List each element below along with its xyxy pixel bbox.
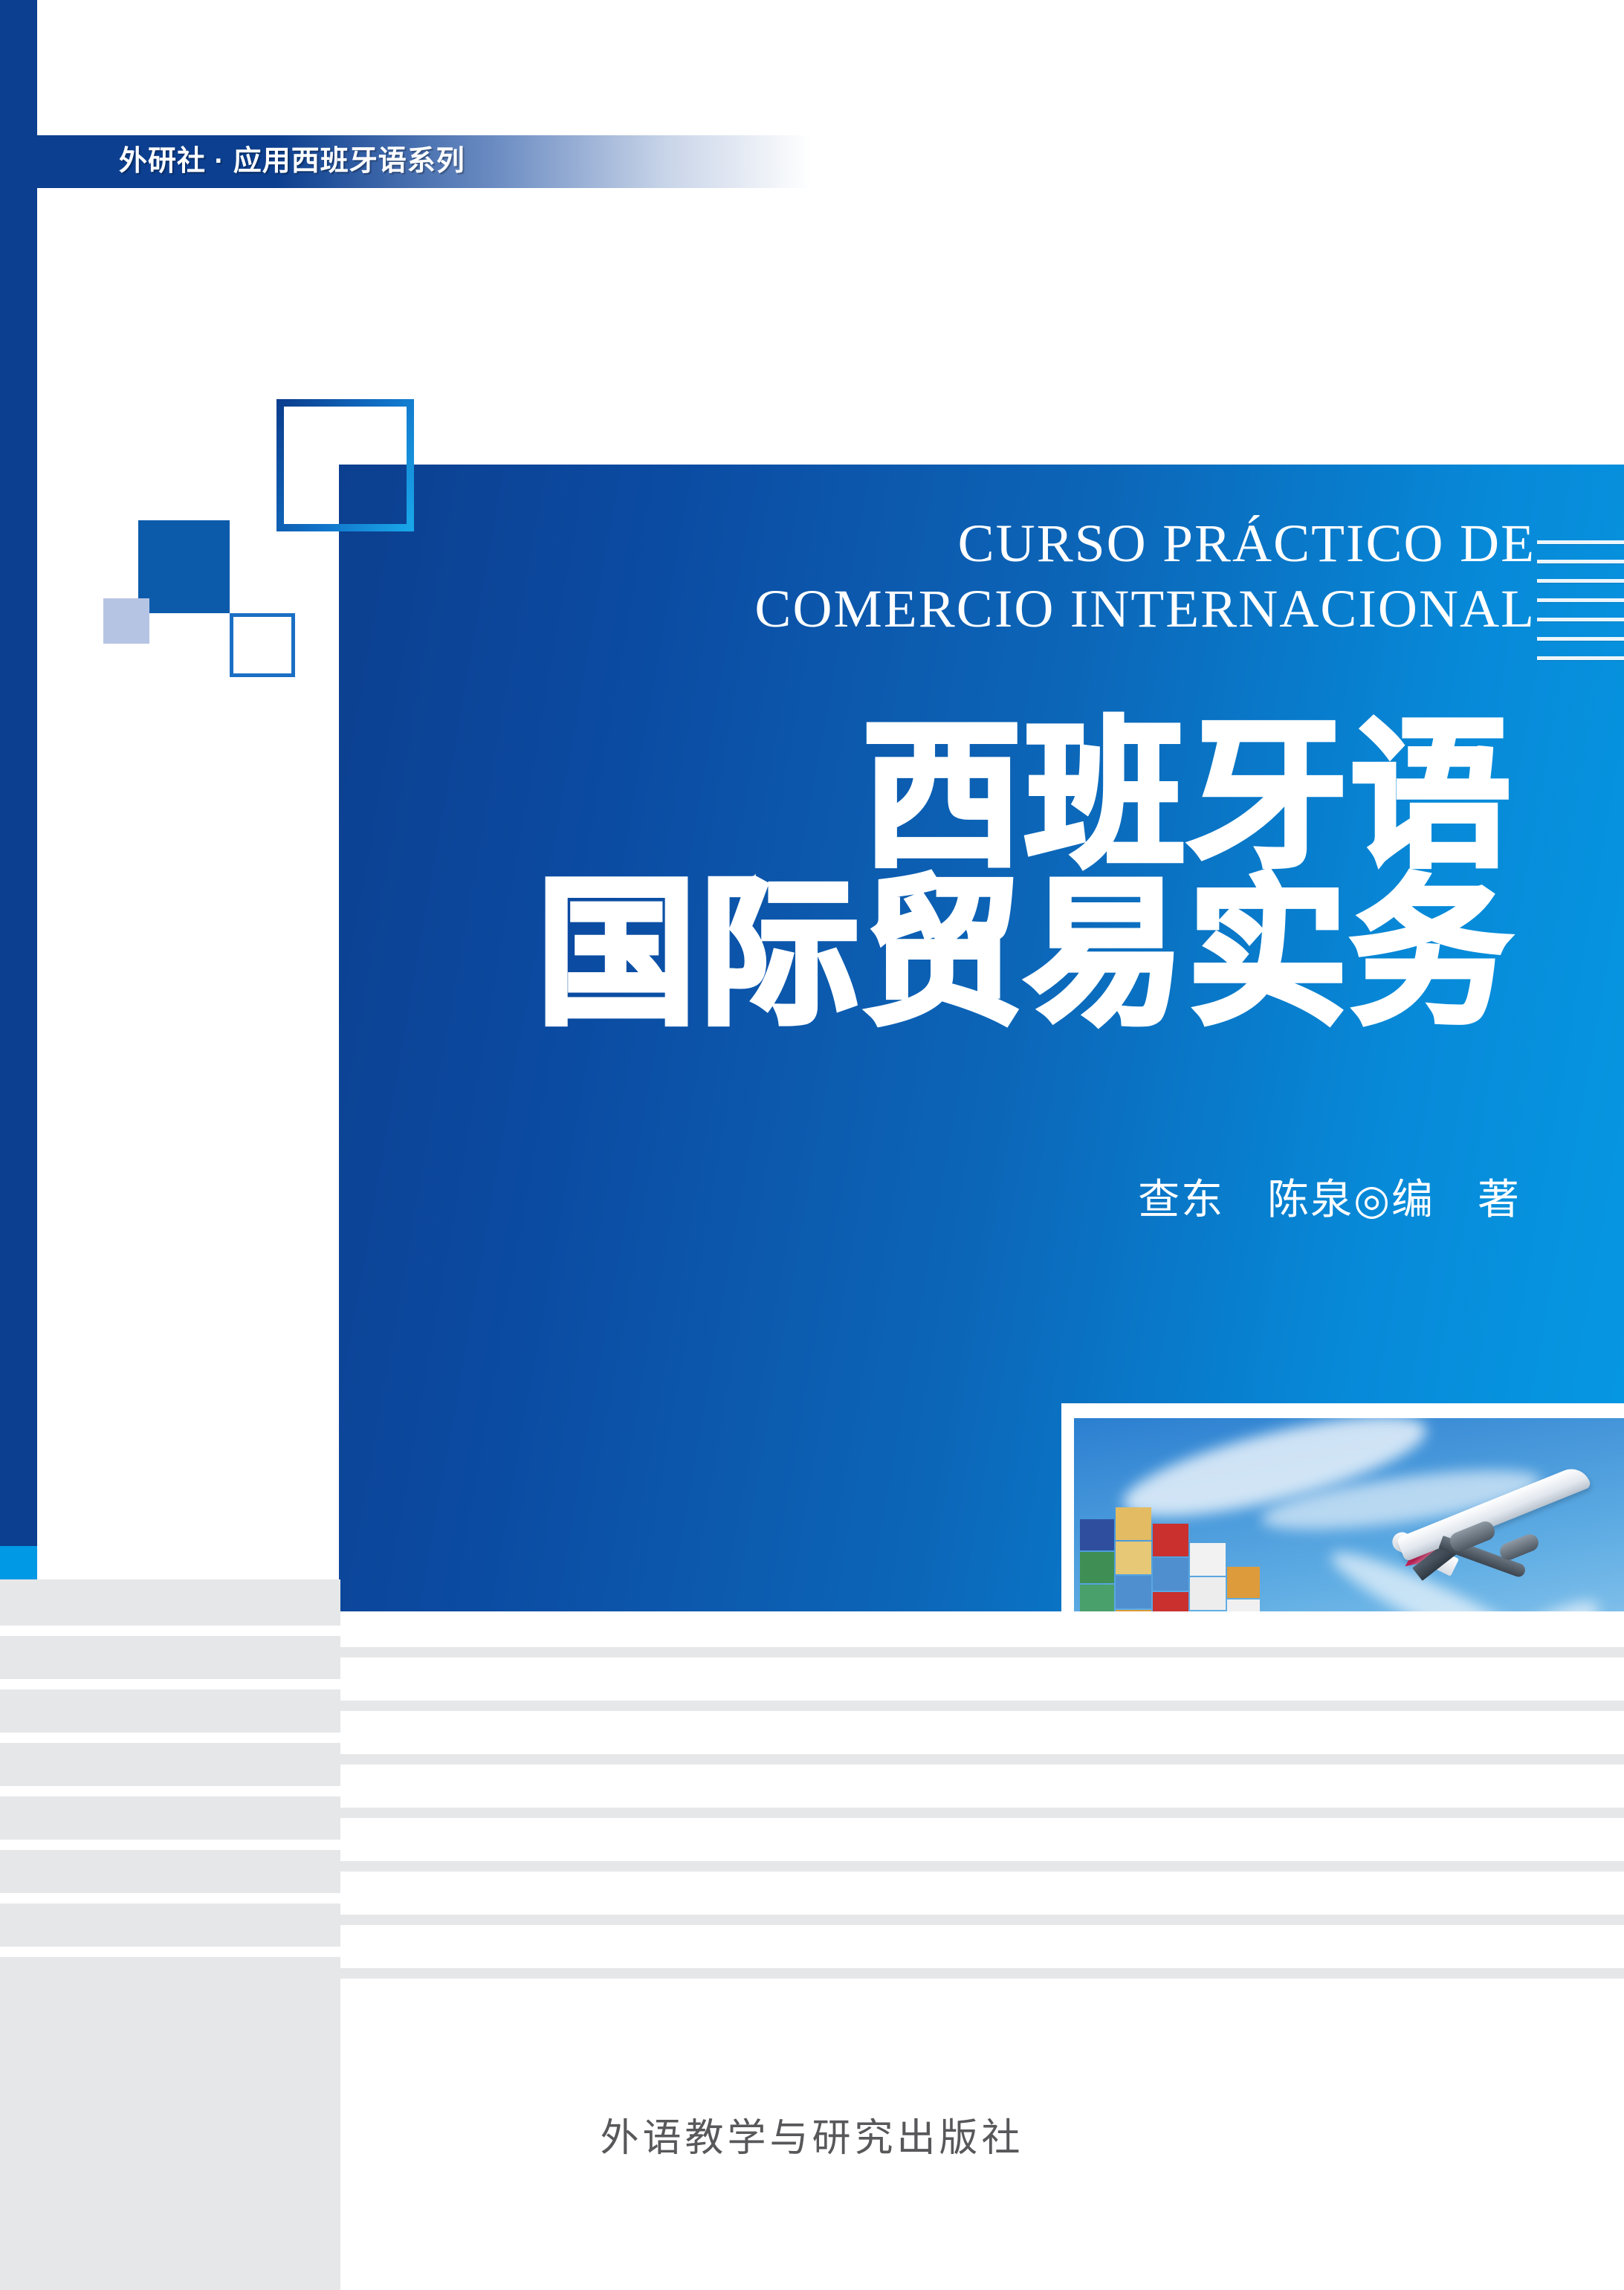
decor-square-filled-mid: [138, 520, 230, 613]
chinese-title: 西班牙语 国际贸易实务: [339, 717, 1513, 1032]
decor-rule: [1537, 618, 1624, 621]
spanish-title-line-1: CURSO PRÁCTICO DE: [315, 520, 1536, 566]
shipping-container: [1190, 1543, 1226, 1576]
decor-rule: [1537, 656, 1624, 660]
decor-rule: [1537, 579, 1624, 583]
decor-square-outline-small: [230, 613, 295, 677]
shipping-container: [1227, 1567, 1260, 1598]
stripe-gap: [0, 1679, 340, 1689]
stripe-band: [340, 1915, 1624, 1925]
chinese-title-line-2: 国际贸易实务: [339, 875, 1513, 1032]
airplane-engine: [1498, 1532, 1541, 1563]
decor-square-outline-large: [276, 399, 414, 531]
left-navy-bar: [0, 0, 37, 1579]
stripe-band: [340, 1754, 1624, 1765]
shipping-container: [1116, 1542, 1151, 1574]
stripe-band: [340, 1861, 1624, 1872]
chinese-title-line-1: 西班牙语: [339, 717, 1513, 875]
shipping-container: [1190, 1577, 1226, 1610]
book-cover: 外研社 · 应用西班牙语系列 CURSO PRÁCTICO DE COMERCI…: [0, 0, 1624, 2290]
decor-rule: [1537, 598, 1624, 602]
stripe-gap: [0, 1733, 340, 1743]
shipping-container: [1153, 1524, 1188, 1556]
stripe-band: [340, 1808, 1624, 1818]
stripe-gap: [0, 1893, 340, 1904]
decor-rule-stack: [1537, 540, 1624, 676]
spanish-title-line-2: COMERCIO INTERNACIONAL: [315, 586, 1536, 632]
decor-rule: [1537, 540, 1624, 544]
stripe-gap: [0, 1626, 340, 1636]
publisher-name: 外语教学与研究出版社: [0, 2106, 1624, 2162]
stripe-field-left: [0, 1579, 340, 2290]
stripe-band: [340, 1701, 1624, 1711]
decor-rule: [1537, 560, 1624, 563]
shipping-container: [1153, 1558, 1188, 1591]
stripe-gap: [0, 1786, 340, 1796]
stripe-gap: [0, 1840, 340, 1850]
stripe-field-right: [340, 1611, 1624, 2290]
shipping-container: [1080, 1552, 1114, 1583]
stripe-band: [340, 1647, 1624, 1657]
decor-rule: [1537, 637, 1624, 641]
shipping-container: [1080, 1519, 1114, 1550]
spanish-title: CURSO PRÁCTICO DE COMERCIO INTERNACIONAL: [315, 520, 1536, 632]
stripe-band: [340, 1968, 1624, 1979]
decor-square-lavender: [103, 598, 149, 644]
left-cyan-accent-block: [0, 1546, 37, 1580]
shipping-container: [1116, 1507, 1151, 1540]
author-credit: 查东 陈泉◎编 著: [339, 1173, 1521, 1226]
stripe-gap: [0, 1947, 340, 1957]
shipping-container: [1116, 1576, 1151, 1608]
series-banner-label: 外研社 · 应用西班牙语系列: [119, 138, 714, 184]
